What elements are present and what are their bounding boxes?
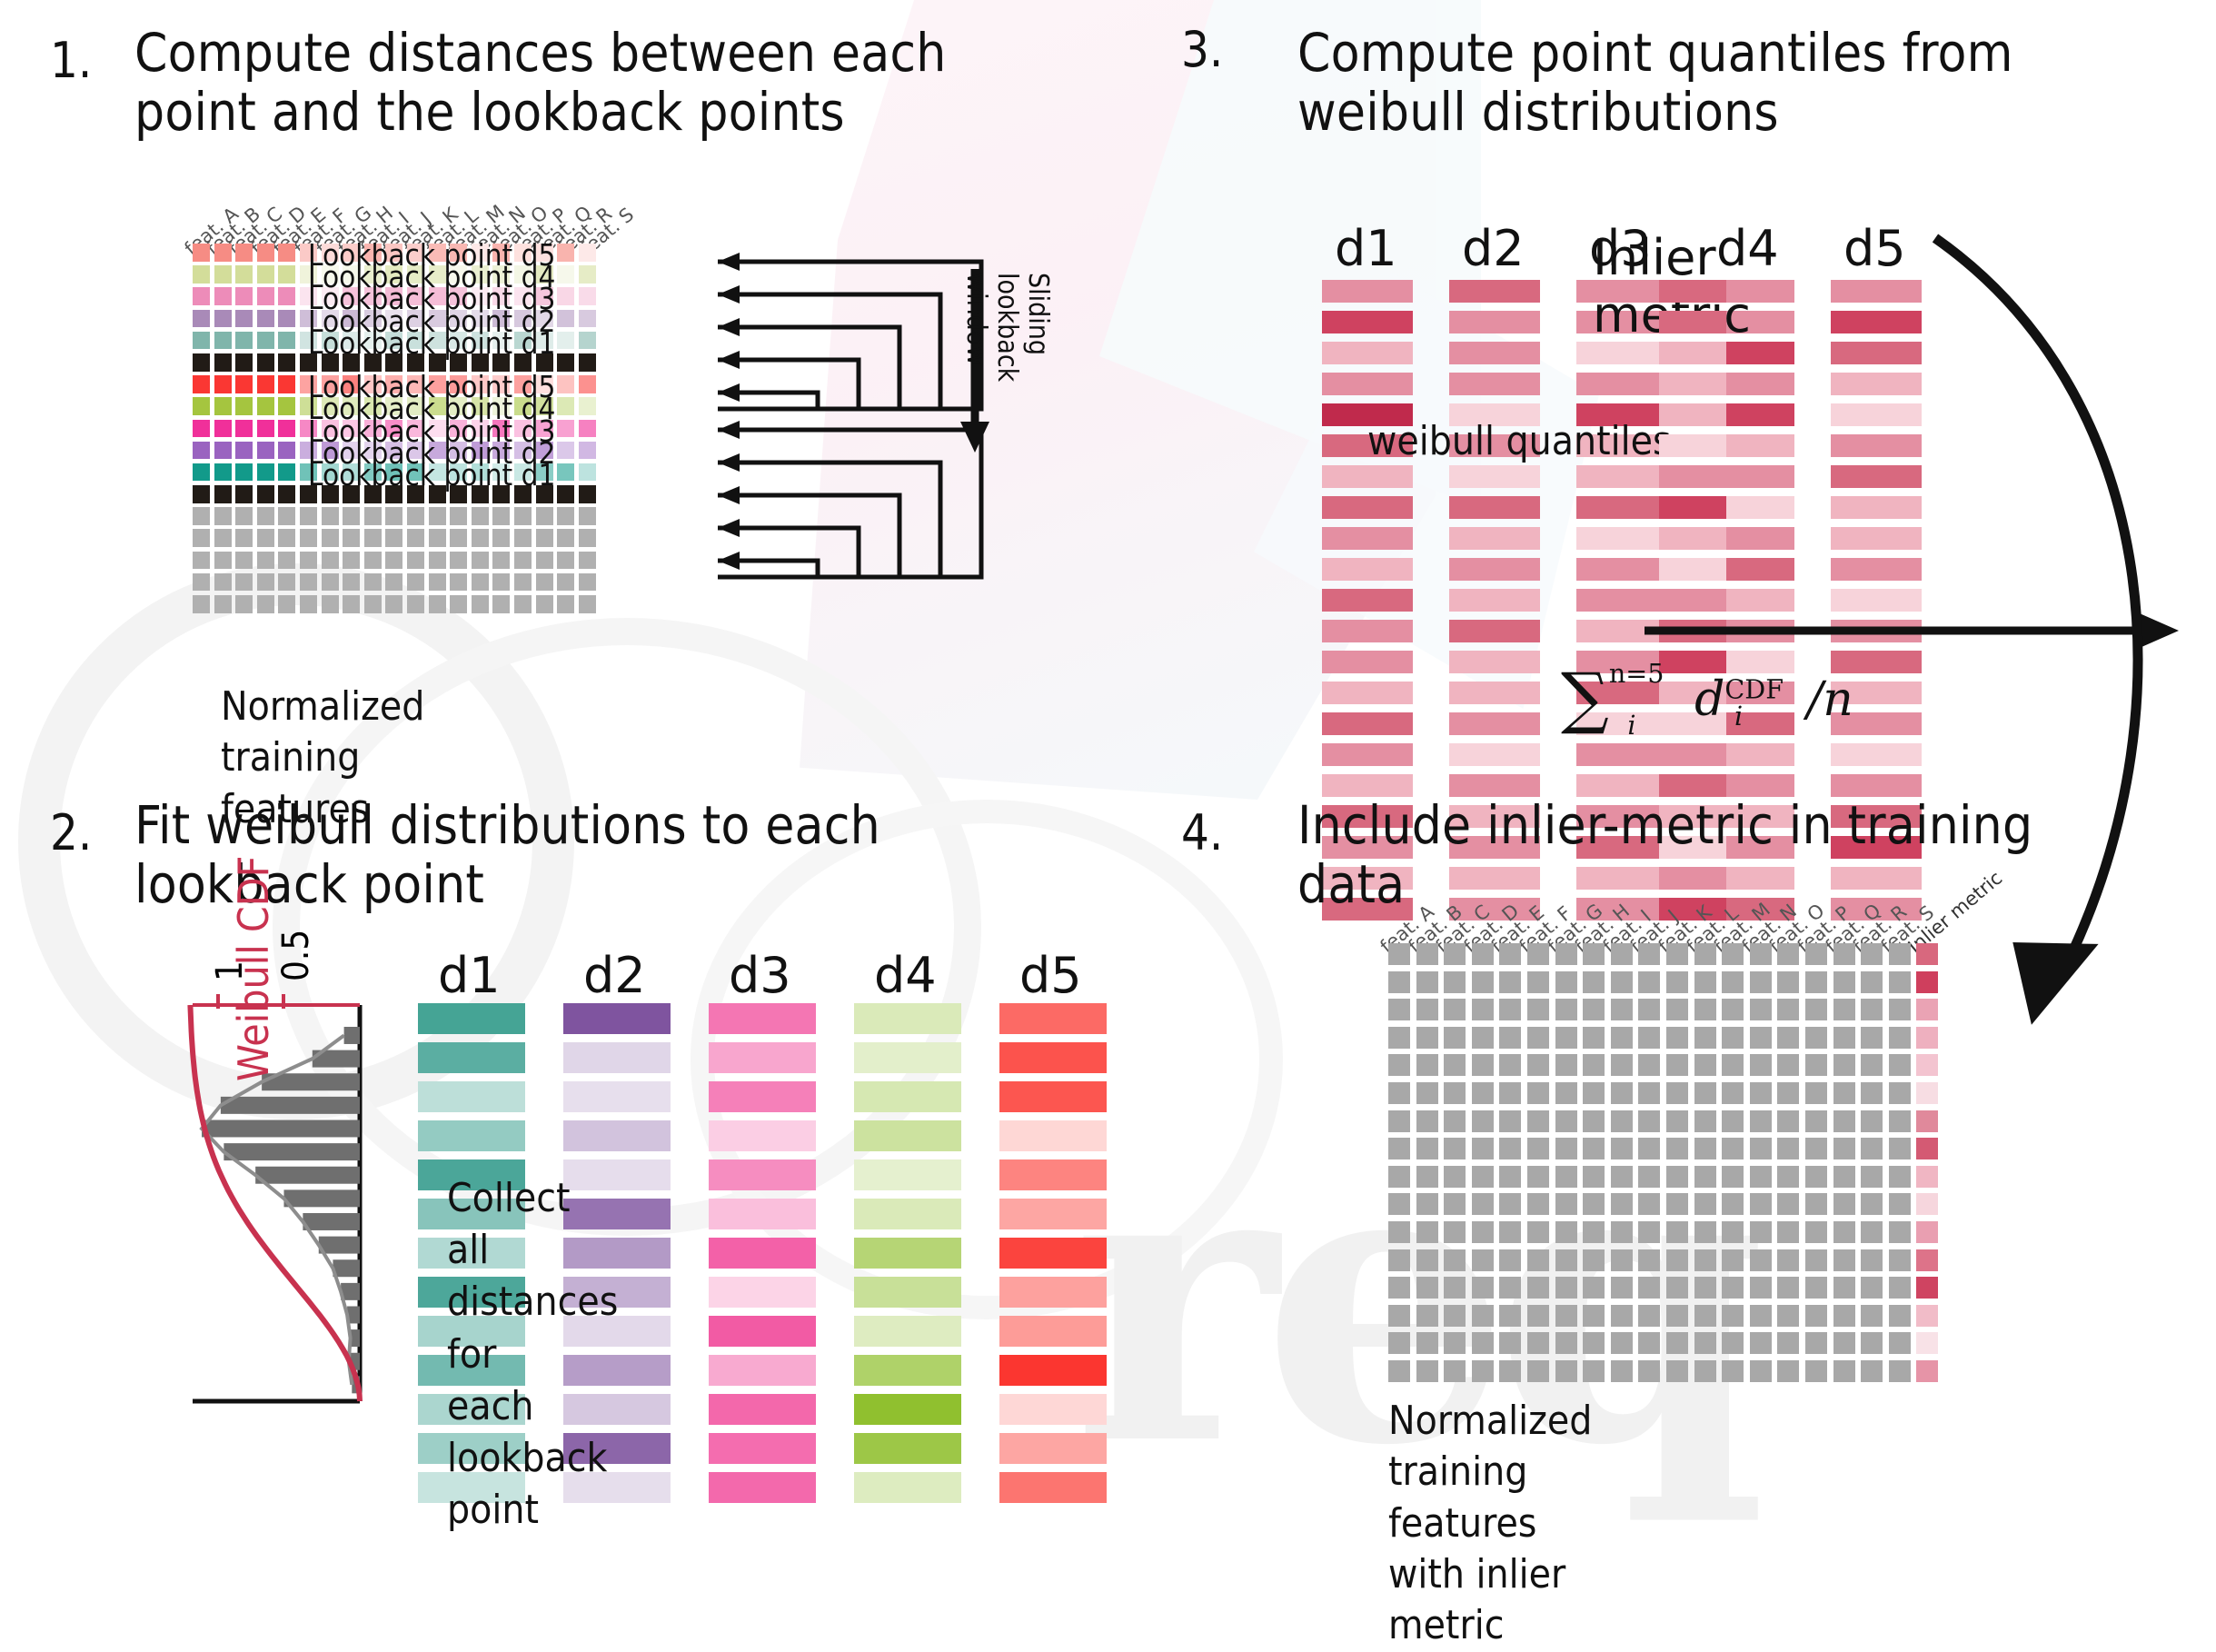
grid-cell — [1805, 1193, 1827, 1215]
grid-cell — [214, 310, 232, 328]
quantile-bar — [1449, 311, 1540, 333]
grid-cell — [1805, 1360, 1827, 1382]
grid-cell — [1805, 1138, 1827, 1159]
sum-symbol: ∑ — [1561, 659, 1609, 737]
grid-cell — [235, 244, 253, 262]
grid-cell — [1722, 1360, 1744, 1382]
grid-cell — [1722, 1277, 1744, 1299]
grid-cell — [1555, 1249, 1577, 1271]
grid-cell — [214, 595, 232, 613]
grid-cell — [1638, 1166, 1660, 1188]
grid-cell — [278, 529, 295, 547]
grid-cell — [579, 397, 596, 415]
grid-cell — [557, 507, 574, 525]
grid-cell — [1666, 1027, 1688, 1049]
grid-row — [193, 552, 600, 570]
grid-cell — [1638, 999, 1660, 1020]
grid-cell — [429, 552, 446, 570]
grid-cell — [1555, 1082, 1577, 1104]
grid-cell — [1750, 1193, 1772, 1215]
distance-bar — [418, 1003, 525, 1034]
grid-cell — [1416, 1305, 1438, 1327]
grid-cell — [1722, 1305, 1744, 1327]
grid-cell — [579, 463, 596, 482]
grid-cell — [1583, 1193, 1605, 1215]
grid-cell — [322, 595, 339, 613]
grid-cell — [1889, 1193, 1911, 1215]
grid-cell — [322, 552, 339, 570]
grid-cell — [1777, 1221, 1799, 1243]
grid-cell — [1861, 1360, 1883, 1382]
distance-bar — [854, 1433, 961, 1464]
grid-cell — [1694, 1249, 1716, 1271]
grid-cell — [514, 529, 532, 547]
grid-cell — [1861, 1249, 1883, 1271]
grid-cell — [1638, 1138, 1660, 1159]
grid-cell — [1388, 943, 1410, 965]
grid-cell — [1666, 1249, 1688, 1271]
grid-cell — [1444, 971, 1466, 993]
grid-cell — [1889, 1332, 1911, 1354]
grid-cell — [385, 552, 402, 570]
grid-cell — [472, 507, 489, 525]
grid-cell — [278, 332, 295, 350]
grid-cell — [536, 529, 553, 547]
grid-cell — [1583, 971, 1605, 993]
grid-cell — [235, 573, 253, 592]
grid-cell — [1833, 1082, 1855, 1104]
distance-bar — [999, 1316, 1107, 1347]
distance-bar — [999, 1042, 1107, 1073]
distance-bar — [418, 1042, 525, 1073]
grid-cell — [1750, 999, 1772, 1020]
grid-cell — [1583, 1332, 1605, 1354]
grid-cell — [579, 573, 596, 592]
grid-cell — [235, 332, 253, 350]
grid-cell — [557, 463, 574, 482]
grid-cell — [1777, 999, 1799, 1020]
grid-cell — [1611, 971, 1633, 993]
grid-cell — [322, 573, 339, 592]
inlier-metric-cell — [1916, 1221, 1938, 1243]
grid-cell — [1499, 1193, 1521, 1215]
grid-cell — [278, 310, 295, 328]
grid-row — [193, 595, 600, 613]
grid-cell — [1861, 1332, 1883, 1354]
grid-cell — [1444, 1138, 1466, 1159]
grid-cell — [1499, 999, 1521, 1020]
grid-cell — [1722, 1166, 1744, 1188]
grid-cell — [1638, 1082, 1660, 1104]
inlier-metric-cell — [1916, 1249, 1938, 1271]
grid-cell — [1611, 1221, 1633, 1243]
grid-cell — [214, 573, 232, 592]
grid-cell — [235, 507, 253, 525]
table-row — [1388, 1082, 1938, 1104]
quantile-bar — [1322, 743, 1413, 766]
grid-cell — [193, 397, 210, 415]
inlier-metric-cell — [1916, 1277, 1938, 1299]
grid-cell — [1833, 1221, 1855, 1243]
grid-cell — [1777, 1082, 1799, 1104]
grid-cell — [1777, 1027, 1799, 1049]
grid-cell — [1416, 1110, 1438, 1132]
grid-cell — [1889, 1305, 1911, 1327]
table-row — [1388, 999, 1938, 1020]
grid-cell — [193, 375, 210, 393]
grid-cell — [214, 332, 232, 350]
grid-cell — [1666, 943, 1688, 965]
grid-cell — [300, 573, 317, 592]
grid-cell — [1388, 1082, 1410, 1104]
inlier-metric-cell — [1916, 943, 1938, 965]
grid-cell — [385, 529, 402, 547]
grid-cell — [1472, 971, 1494, 993]
grid-cell — [257, 310, 274, 328]
grid-cell — [1472, 1166, 1494, 1188]
grid-cell — [1416, 1138, 1438, 1159]
distance-bar — [854, 1316, 961, 1347]
quantile-bar — [1576, 527, 1667, 550]
grid-cell — [407, 595, 424, 613]
grid-cell — [1472, 1082, 1494, 1104]
grid-cell — [1555, 1305, 1577, 1327]
grid-cell — [343, 552, 360, 570]
grid-cell — [1527, 1305, 1549, 1327]
formula-body: d — [1694, 672, 1724, 727]
grid-cell — [1583, 1138, 1605, 1159]
background-blob-blue-2 — [1254, 273, 1599, 709]
distance-bar — [999, 1238, 1107, 1269]
grid-cell — [1611, 1193, 1633, 1215]
grid-cell — [557, 573, 574, 592]
inlier-metric-bar — [1659, 527, 1726, 550]
grid-cell — [1444, 1277, 1466, 1299]
grid-cell — [1416, 1249, 1438, 1271]
grid-cell — [235, 353, 253, 372]
quantile-bar — [1576, 589, 1667, 612]
grid-cell — [1499, 1138, 1521, 1159]
inlier-metric-cell — [1916, 1110, 1938, 1132]
table-row — [1388, 1193, 1938, 1215]
grid-cell — [1750, 1138, 1772, 1159]
grid-cell — [1444, 1110, 1466, 1132]
grid-cell — [1416, 971, 1438, 993]
grid-cell — [1638, 1193, 1660, 1215]
grid-cell — [257, 244, 274, 262]
grid-cell — [1611, 1082, 1633, 1104]
grid-cell — [579, 507, 596, 525]
quantile-bar — [1322, 342, 1413, 364]
grid-cell — [1805, 1305, 1827, 1327]
inlier-metric-bar — [1659, 342, 1726, 364]
panel-4-caption: Normalized training features with inlier… — [1388, 1396, 1592, 1652]
distance-bar — [999, 1355, 1107, 1386]
table-row — [1388, 943, 1938, 965]
distance-bar — [709, 1433, 816, 1464]
distance-column-label: d3 — [729, 947, 791, 1004]
grid-cell — [235, 287, 253, 305]
grid-cell — [407, 552, 424, 570]
grid-cell — [1388, 1110, 1410, 1132]
grid-cell — [1833, 1193, 1855, 1215]
grid-cell — [1777, 1305, 1799, 1327]
grid-cell — [1833, 1166, 1855, 1188]
grid-cell — [1499, 1110, 1521, 1132]
inlier-metric-formula: ∑n=5i dCDFi /n — [1561, 659, 1853, 737]
grid-cell — [1694, 1305, 1716, 1327]
grid-cell — [536, 595, 553, 613]
grid-cell — [1444, 1082, 1466, 1104]
grid-cell — [1527, 1166, 1549, 1188]
grid-cell — [1444, 1166, 1466, 1188]
table-row — [1388, 1054, 1938, 1076]
grid-row — [193, 529, 600, 547]
inlier-metric-cell — [1916, 1054, 1938, 1076]
grid-cell — [1416, 1082, 1438, 1104]
grid-cell — [1583, 1082, 1605, 1104]
grid-cell — [1388, 1054, 1410, 1076]
grid-cell — [1416, 1360, 1438, 1382]
grid-cell — [1805, 999, 1827, 1020]
quantile-bar — [1449, 651, 1540, 673]
grid-cell — [1694, 1110, 1716, 1132]
grid-cell — [343, 595, 360, 613]
quantile-bar — [1576, 373, 1667, 395]
grid-cell — [1889, 999, 1911, 1020]
grid-cell — [1889, 1027, 1911, 1049]
grid-cell — [450, 595, 467, 613]
grid-cell — [1861, 1110, 1883, 1132]
quantile-bar — [1322, 311, 1413, 333]
inlier-metric-cell — [1916, 1360, 1938, 1382]
grid-cell — [1861, 1221, 1883, 1243]
distance-bar — [709, 1081, 816, 1112]
grid-cell — [429, 529, 446, 547]
grid-cell — [1499, 1249, 1521, 1271]
grid-cell — [1889, 971, 1911, 993]
grid-cell — [1444, 1193, 1466, 1215]
grid-cell — [1472, 1221, 1494, 1243]
quantile-bar — [1322, 465, 1413, 488]
grid-cell — [1472, 1054, 1494, 1076]
grid-cell — [1833, 1054, 1855, 1076]
distance-column-label: d1 — [438, 947, 501, 1004]
grid-cell — [278, 463, 295, 482]
grid-cell — [1777, 1138, 1799, 1159]
quantile-bar — [1322, 620, 1413, 642]
grid-cell — [214, 244, 232, 262]
grid-cell — [1805, 1249, 1827, 1271]
grid-cell — [1777, 943, 1799, 965]
grid-cell — [214, 552, 232, 570]
distance-bar — [854, 1355, 961, 1386]
formula-body-sub: i — [1734, 701, 1743, 731]
grid-cell — [1694, 971, 1716, 993]
grid-cell — [1777, 1360, 1799, 1382]
grid-cell — [1499, 943, 1521, 965]
grid-cell — [193, 573, 210, 592]
grid-cell — [1611, 1332, 1633, 1354]
grid-cell — [1611, 1305, 1633, 1327]
distance-bar — [709, 1472, 816, 1503]
inlier-metric-bar — [1659, 403, 1726, 426]
grid-cell — [1638, 943, 1660, 965]
inlier-metric-bar — [1659, 496, 1726, 519]
grid-cell — [278, 244, 295, 262]
grid-cell — [193, 552, 210, 570]
quantile-bar — [1322, 496, 1413, 519]
table-row — [1388, 1249, 1938, 1271]
grid-cell — [278, 397, 295, 415]
grid-cell — [300, 595, 317, 613]
grid-cell — [450, 529, 467, 547]
grid-cell — [257, 353, 274, 372]
grid-cell — [1861, 1027, 1883, 1049]
grid-cell — [1638, 1305, 1660, 1327]
quantile-bar — [1449, 589, 1540, 612]
grid-cell — [1666, 1193, 1688, 1215]
grid-cell — [557, 310, 574, 328]
grid-cell — [557, 287, 574, 305]
step-4-title: Include inlier-metric in training data — [1297, 796, 2170, 914]
distance-bar — [854, 1042, 961, 1073]
distance-bar — [418, 1120, 525, 1151]
grid-cell — [300, 507, 317, 525]
grid-cell — [1861, 1138, 1883, 1159]
table-row — [1388, 1332, 1938, 1354]
grid-cell — [193, 244, 210, 262]
grid-cell — [214, 397, 232, 415]
grid-cell — [1833, 1360, 1855, 1382]
grid-cell — [1722, 1332, 1744, 1354]
grid-cell — [557, 332, 574, 350]
grid-cell — [1750, 1221, 1772, 1243]
grid-cell — [1472, 1277, 1494, 1299]
distance-bar — [854, 1277, 961, 1308]
grid-cell — [278, 573, 295, 592]
inlier-metric-bar — [1659, 280, 1726, 303]
grid-cell — [1722, 999, 1744, 1020]
grid-cell — [1889, 1166, 1911, 1188]
grid-cell — [1694, 999, 1716, 1020]
grid-cell — [1388, 1249, 1410, 1271]
grid-cell — [214, 375, 232, 393]
grid-cell — [1889, 1360, 1911, 1382]
grid-cell — [257, 287, 274, 305]
grid-cell — [1583, 1054, 1605, 1076]
grid-cell — [214, 420, 232, 438]
grid-row — [193, 507, 600, 525]
grid-cell — [214, 463, 232, 482]
grid-cell — [1555, 1027, 1577, 1049]
grid-cell — [1777, 1166, 1799, 1188]
grid-cell — [1889, 1277, 1911, 1299]
grid-cell — [257, 265, 274, 284]
grid-cell — [579, 485, 596, 503]
grid-cell — [193, 287, 210, 305]
grid-cell — [1527, 1138, 1549, 1159]
grid-cell — [1889, 1138, 1911, 1159]
grid-cell — [1388, 1360, 1410, 1382]
grid-cell — [1805, 971, 1827, 993]
grid-cell — [536, 552, 553, 570]
grid-cell — [1694, 1166, 1716, 1188]
grid-cell — [1583, 1027, 1605, 1049]
distance-bar — [563, 1042, 671, 1073]
grid-cell — [1805, 1277, 1827, 1299]
quantile-bar — [1576, 558, 1667, 581]
grid-cell — [1527, 1110, 1549, 1132]
grid-cell — [193, 332, 210, 350]
grid-cell — [1861, 1277, 1883, 1299]
grid-cell — [343, 507, 360, 525]
grid-cell — [1555, 1138, 1577, 1159]
distance-bar — [709, 1355, 816, 1386]
panel-1-connectors-bottom — [709, 413, 1090, 777]
grid-cell — [579, 332, 596, 350]
distance-column-label: d2 — [583, 947, 646, 1004]
grid-cell — [1750, 1166, 1772, 1188]
grid-cell — [322, 529, 339, 547]
formula-divisor: /n — [1807, 672, 1853, 727]
grid-cell — [1722, 1138, 1744, 1159]
inlier-metric-bar — [1659, 743, 1726, 766]
grid-cell — [1833, 999, 1855, 1020]
quantile-bar — [1322, 682, 1413, 704]
grid-row — [193, 573, 600, 592]
distance-bar — [999, 1472, 1107, 1503]
grid-cell — [579, 353, 596, 372]
grid-cell — [214, 485, 232, 503]
distance-bar — [709, 1394, 816, 1425]
distance-bar — [999, 1003, 1107, 1034]
grid-cell — [1416, 1277, 1438, 1299]
grid-cell — [235, 485, 253, 503]
grid-cell — [257, 420, 274, 438]
grid-cell — [1388, 1277, 1410, 1299]
grid-cell — [1555, 943, 1577, 965]
distance-bar — [854, 1159, 961, 1190]
grid-cell — [1472, 1360, 1494, 1382]
grid-cell — [557, 595, 574, 613]
grid-cell — [1805, 1221, 1827, 1243]
inlier-metric-cell — [1916, 1305, 1938, 1327]
grid-cell — [1694, 1082, 1716, 1104]
grid-cell — [193, 507, 210, 525]
grid-cell — [1444, 1305, 1466, 1327]
grid-cell — [1777, 1249, 1799, 1271]
grid-cell — [1694, 1027, 1716, 1049]
grid-cell — [1638, 1054, 1660, 1076]
step-1-number: 1. — [50, 36, 92, 85]
grid-cell — [1611, 1249, 1633, 1271]
grid-cell — [257, 442, 274, 460]
grid-cell — [1694, 1193, 1716, 1215]
grid-cell — [257, 375, 274, 393]
grid-cell — [1555, 1110, 1577, 1132]
grid-cell — [193, 310, 210, 328]
grid-cell — [1527, 943, 1549, 965]
grid-cell — [1388, 1138, 1410, 1159]
grid-cell — [1666, 971, 1688, 993]
grid-cell — [235, 265, 253, 284]
grid-cell — [1472, 1332, 1494, 1354]
grid-cell — [1611, 943, 1633, 965]
grid-cell — [429, 595, 446, 613]
curved-arrow-to-panel-4-icon — [1899, 227, 2208, 1136]
grid-cell — [1472, 1138, 1494, 1159]
